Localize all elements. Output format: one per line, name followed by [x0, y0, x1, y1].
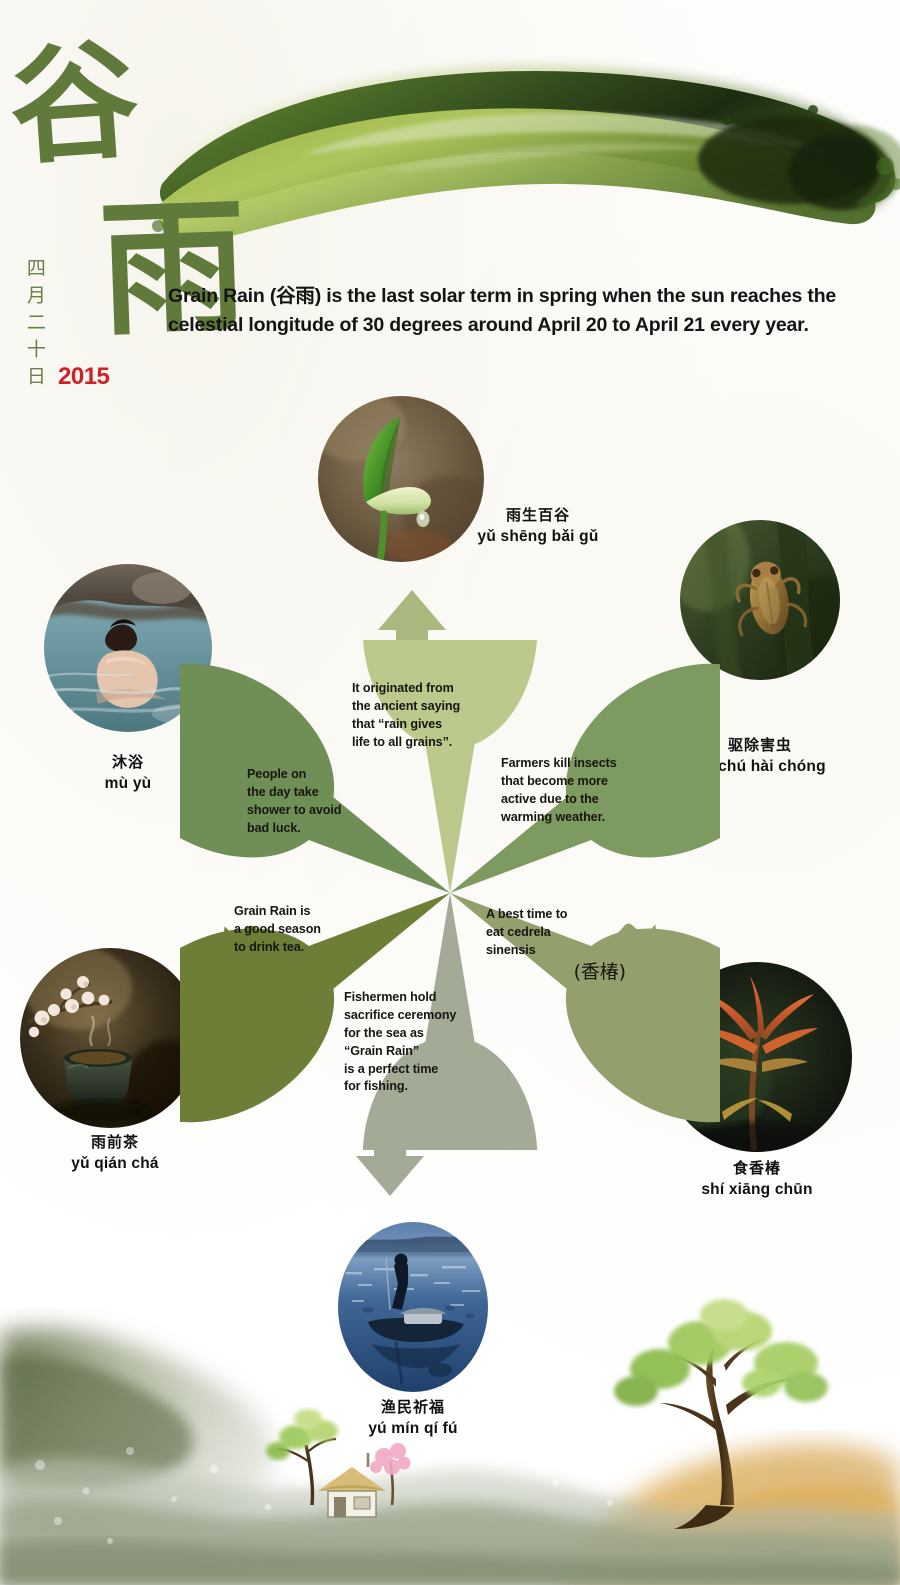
petal-cedrela-chinese: (香椿) [486, 959, 626, 986]
petal-fishermen-line-4: “Grain Rain” [344, 1043, 494, 1061]
caption-grain-cn: 雨生百谷 [423, 505, 653, 525]
tea-cup-photo [20, 948, 200, 1128]
petal-tea-line-3: to drink tea. [234, 939, 374, 957]
caption-grain: 雨生百谷 yǔ shēng bǎi gǔ [423, 505, 653, 548]
grain-rain-infographic: 谷 雨 四月二十日 2015 Grain Rain (谷雨) is the la… [0, 0, 900, 1585]
petal-shower-line-4: bad luck. [247, 820, 387, 838]
petal-tea-line-1: Grain Rain is [234, 903, 374, 921]
petal-fishermen-text: Fishermen hold sacrifice ceremony for th… [344, 989, 494, 1096]
caption-fishing-cn: 渔民祈福 [298, 1397, 528, 1417]
petal-origin-text: It originated from the ancient saying th… [352, 680, 502, 752]
petal-cedrela-text: A best time to eat cedrela sinensis (香椿) [486, 906, 626, 986]
petal-insects-line-2: that become more [501, 773, 661, 791]
petal-shower-line-2: the day take [247, 784, 387, 802]
petal-tea-text: Grain Rain is a good season to drink tea… [234, 903, 374, 957]
petal-tea-line-2: a good season [234, 921, 374, 939]
petal-cedrela-line-2: eat cedrela [486, 924, 626, 942]
caption-cedrela-pinyin: shí xiāng chūn [642, 1180, 872, 1201]
petal-insects-text: Farmers kill insects that become more ac… [501, 755, 661, 827]
caption-cedrela-cn: 食香椿 [642, 1158, 872, 1178]
petal-origin-line-2: the ancient saying [352, 698, 502, 716]
caption-fishing: 渔民祈福 yú mín qí fú [298, 1397, 528, 1440]
petal-cedrela-line-1: A best time to [486, 906, 626, 924]
petal-fishermen-line-5: is a perfect time [344, 1061, 494, 1079]
vertical-date-text: 四月二十日 [24, 258, 45, 393]
petal-shower-line-3: shower to avoid [247, 802, 387, 820]
caption-grain-pinyin: yǔ shēng bǎi gǔ [423, 527, 653, 548]
headline-paragraph: Grain Rain (谷雨) is the last solar term i… [168, 282, 878, 340]
petal-insects-line-3: active due to the [501, 791, 661, 809]
petal-origin-line-1: It originated from [352, 680, 502, 698]
petal-cedrela-line-3: sinensis [486, 942, 626, 960]
petal-shower-line-1: People on [247, 766, 387, 784]
ink-brush-stroke [150, 44, 900, 284]
petal-origin-line-4: life to all grains”. [352, 734, 502, 752]
headline-text: Grain Rain (谷雨) is the last solar term i… [168, 285, 836, 336]
caption-cedrela: 食香椿 shí xiāng chūn [642, 1158, 872, 1201]
petal-fishermen-line-6: for fishing. [344, 1078, 494, 1096]
caption-fishing-pinyin: yú mín qí fú [298, 1419, 528, 1440]
calligraphy-gu: 谷 [6, 36, 143, 173]
petal-fishermen-line-3: for the sea as [344, 1025, 494, 1043]
petal-shower-text: People on the day take shower to avoid b… [247, 766, 387, 838]
petal-origin-line-3: that “rain gives [352, 716, 502, 734]
petal-insects-line-1: Farmers kill insects [501, 755, 661, 773]
petal-fishermen-line-2: sacrifice ceremony [344, 1007, 494, 1025]
petal-insects-line-4: warming weather. [501, 809, 661, 827]
caption-tea-pinyin: yǔ qián chá [0, 1154, 230, 1175]
year-label: 2015 [58, 363, 109, 391]
petal-fishermen-line-1: Fishermen hold [344, 989, 494, 1007]
